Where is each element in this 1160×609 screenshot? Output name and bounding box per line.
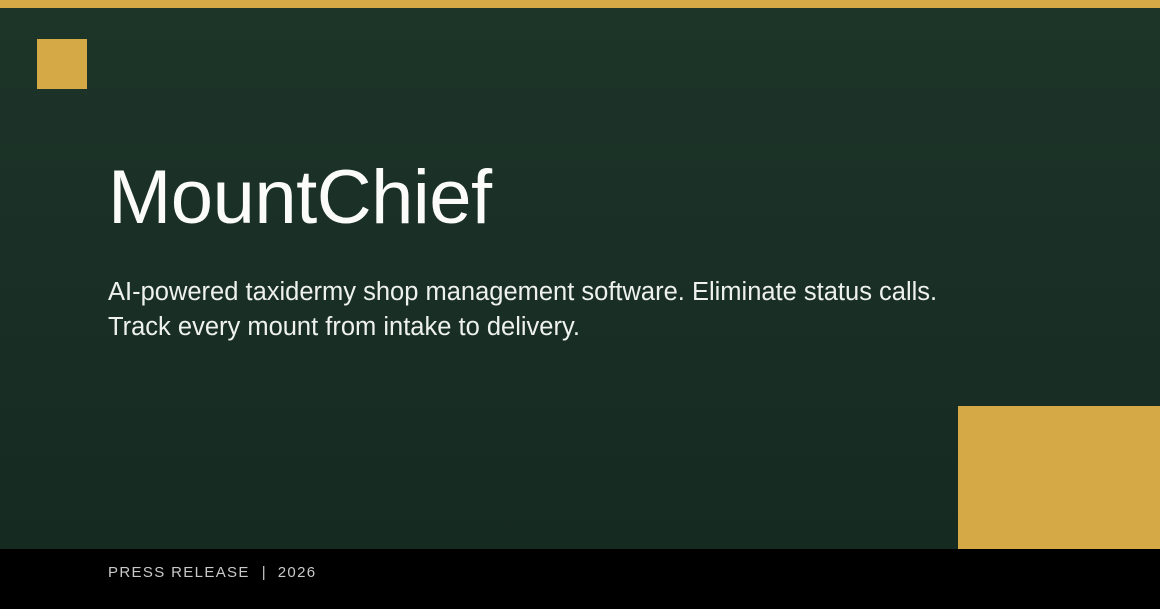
page-title: MountChief — [108, 158, 968, 239]
slide-subtitle: AI-powered taxidermy shop management sof… — [108, 275, 943, 345]
footer-divider: | — [250, 564, 278, 582]
slide-canvas: MountChief AI-powered taxidermy shop man… — [0, 8, 1160, 549]
presentation-slide: MountChief AI-powered taxidermy shop man… — [0, 0, 1160, 609]
footer-content: PRESS RELEASE | 2026 — [108, 564, 316, 582]
slide-content: MountChief AI-powered taxidermy shop man… — [108, 158, 968, 345]
gold-accent-block — [958, 406, 1160, 549]
brand-square-mark-icon — [37, 39, 87, 89]
footer-label: PRESS RELEASE — [108, 564, 250, 582]
footer-year: 2026 — [278, 564, 317, 582]
top-accent-bar — [0, 0, 1160, 8]
